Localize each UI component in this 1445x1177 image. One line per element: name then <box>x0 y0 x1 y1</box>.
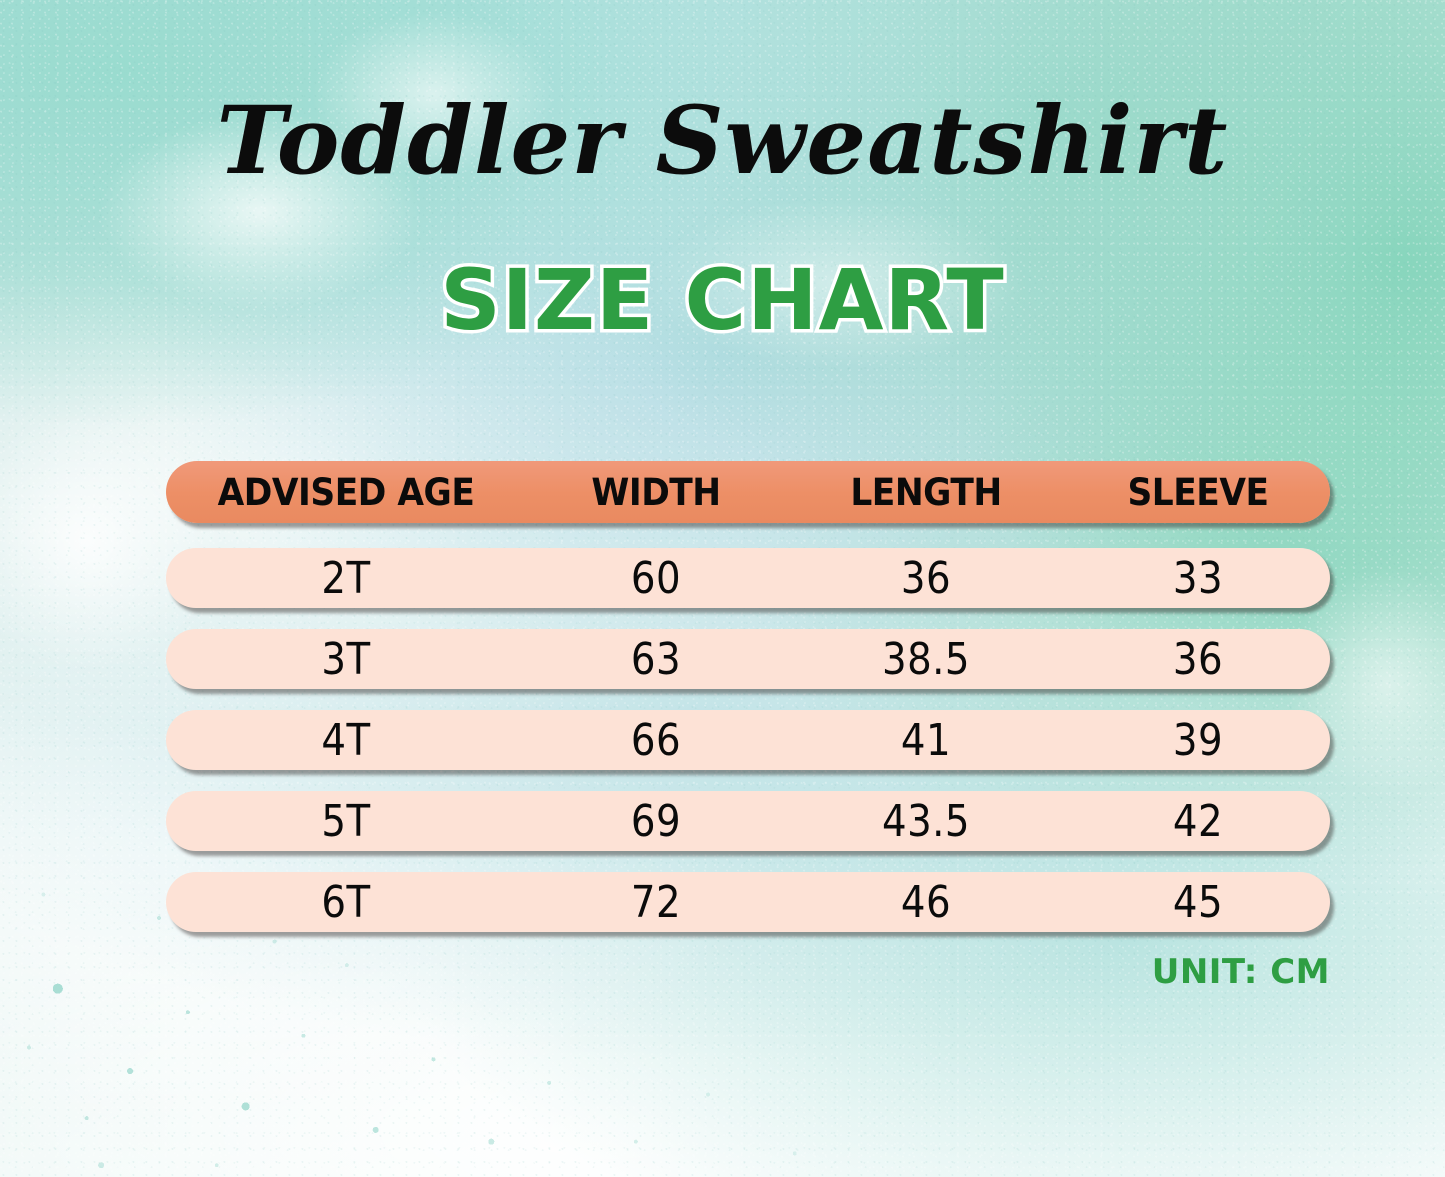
cell-width: 60 <box>542 553 771 604</box>
column-header-length: LENGTH <box>796 471 1056 514</box>
cell-length: 38.5 <box>803 634 1049 685</box>
table-row: 4T 66 41 39 <box>166 710 1330 770</box>
cell-length: 41 <box>803 715 1049 766</box>
title-block: Toddler Sweatshirt <box>0 92 1445 192</box>
cell-sleeve: 39 <box>1082 715 1314 766</box>
cell-sleeve: 45 <box>1082 877 1314 928</box>
cell-sleeve: 42 <box>1082 796 1314 847</box>
page-title: Toddler Sweatshirt <box>0 92 1445 192</box>
cell-length: 46 <box>803 877 1049 928</box>
cell-width: 66 <box>542 715 771 766</box>
cell-advised-age: 5T <box>188 796 505 847</box>
table-row: 5T 69 43.5 42 <box>166 791 1330 851</box>
cell-advised-age: 2T <box>188 553 505 604</box>
column-header-sleeve: SLEEVE <box>1075 471 1321 514</box>
cell-length: 36 <box>803 553 1049 604</box>
cell-advised-age: 6T <box>188 877 505 928</box>
cell-length: 43.5 <box>803 796 1049 847</box>
table-row: 2T 60 36 33 <box>166 548 1330 608</box>
cell-sleeve: 36 <box>1082 634 1314 685</box>
table-row: 3T 63 38.5 36 <box>166 629 1330 689</box>
cell-advised-age: 3T <box>188 634 505 685</box>
size-chart-table: ADVISED AGE WIDTH LENGTH SLEEVE 2T 60 36… <box>166 461 1330 932</box>
page-subtitle: SIZE CHART <box>440 258 1004 342</box>
cell-width: 69 <box>542 796 771 847</box>
table-row: 6T 72 46 45 <box>166 872 1330 932</box>
column-header-width: WIDTH <box>535 471 777 514</box>
cell-width: 72 <box>542 877 771 928</box>
unit-note: UNIT: CM <box>0 952 1330 992</box>
column-header-advised-age: ADVISED AGE <box>179 471 514 514</box>
cell-sleeve: 33 <box>1082 553 1314 604</box>
table-header-row: ADVISED AGE WIDTH LENGTH SLEEVE <box>166 461 1330 523</box>
cell-advised-age: 4T <box>188 715 505 766</box>
subtitle-block: SIZE CHART <box>0 258 1445 342</box>
size-chart-poster: Toddler Sweatshirt SIZE CHART ADVISED AG… <box>0 0 1445 1177</box>
cell-width: 63 <box>542 634 771 685</box>
